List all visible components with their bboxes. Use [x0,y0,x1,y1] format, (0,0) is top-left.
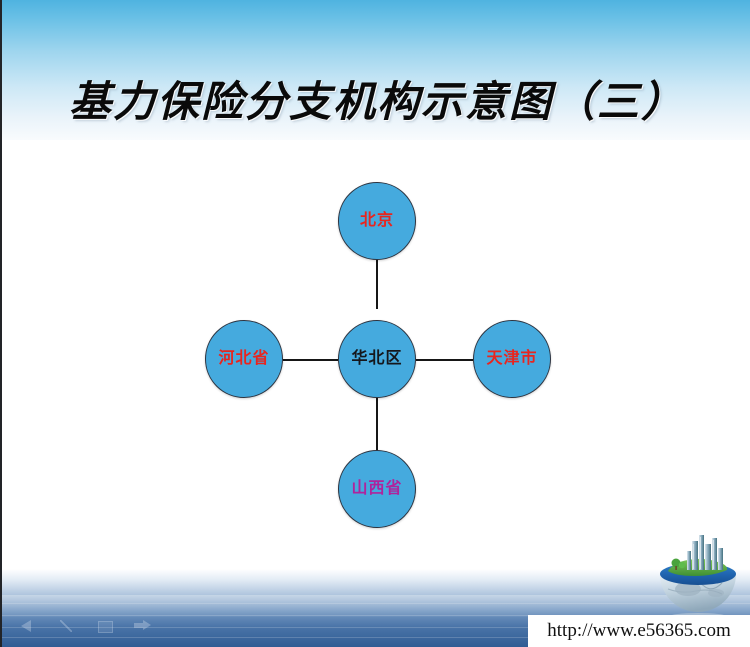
globe-city-icon [648,531,746,623]
node-left-label: 河北省 [218,351,269,367]
watermark-url-strip: http://www.e56365.com [528,615,750,647]
org-diagram: 北京 河北省 华北区 天津市 山西省 [2,0,750,647]
node-top-label: 北京 [360,213,394,229]
node-top[interactable]: 北京 [338,182,416,260]
node-center[interactable]: 华北区 [338,320,416,398]
connector-center-to-bottom [376,398,378,450]
watermark-url[interactable]: http://www.e56365.com [547,620,730,642]
presentation-slide: 基力保险分支机构示意图（三） 北京 河北省 华北区 天津市 山西省 [0,0,750,647]
node-bottom-label: 山西省 [351,481,402,497]
node-right[interactable]: 天津市 [473,320,551,398]
node-center-label: 华北区 [351,351,402,367]
connector-center-to-top [376,259,378,309]
connector-center-to-left [283,359,338,361]
connector-center-to-right [416,359,473,361]
node-left[interactable]: 河北省 [205,320,283,398]
node-right-label: 天津市 [486,351,537,367]
node-bottom[interactable]: 山西省 [338,450,416,528]
